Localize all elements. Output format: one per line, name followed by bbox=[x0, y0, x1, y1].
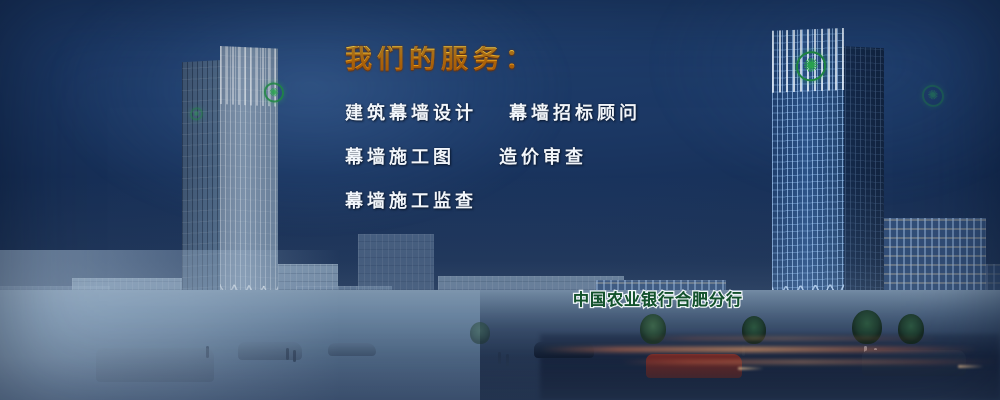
service-item: 幕墙招标顾问 bbox=[509, 105, 641, 123]
service-row: 建筑幕墙设计 幕墙招标顾问 bbox=[345, 105, 745, 123]
service-item: 幕墙施工图 bbox=[345, 149, 455, 167]
service-row: 幕墙施工图 造价审查 bbox=[345, 149, 745, 167]
services-copy-block: 我们的服务： 建筑幕墙设计 幕墙招标顾问 幕墙施工图 造价审查 幕墙施工监查 bbox=[345, 46, 745, 237]
service-item: 建筑幕墙设计 bbox=[345, 105, 477, 123]
light-trail bbox=[540, 347, 980, 352]
service-item: 造价审查 bbox=[499, 149, 587, 167]
abc-bank-logo-icon: ✺ bbox=[922, 84, 944, 107]
project-caption: 中国农业银行合肥分行 bbox=[573, 292, 743, 308]
service-row: 幕墙施工监查 bbox=[345, 193, 745, 211]
tree bbox=[470, 322, 490, 344]
bottom-fade bbox=[0, 356, 1000, 400]
light-trail bbox=[640, 337, 940, 340]
bank-services-banner: ✺ ✺ ✺ bbox=[0, 0, 1000, 400]
service-item: 幕墙施工监查 bbox=[345, 193, 477, 211]
headline: 我们的服务： bbox=[345, 46, 745, 73]
abc-bank-logo-icon: ✺ bbox=[264, 82, 284, 103]
